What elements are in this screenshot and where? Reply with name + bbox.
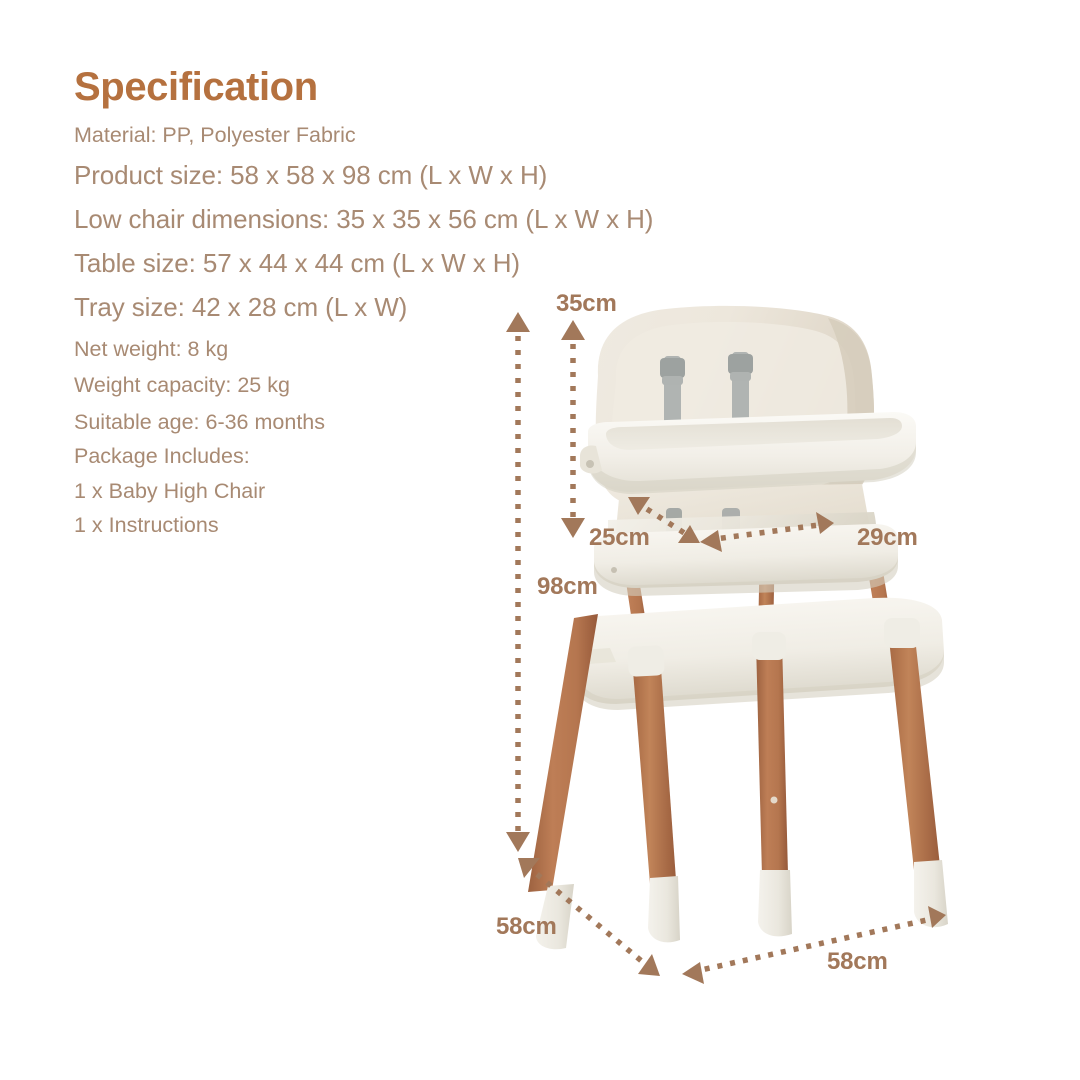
page-title: Specification <box>74 66 594 108</box>
high-chair-illustration <box>470 280 1030 1020</box>
spec-line-low-chair-size: Low chair dimensions: 35 x 35 x 56 cm (L… <box>74 203 594 236</box>
dimension-label-25cm: 25cm <box>589 524 650 552</box>
food-tray <box>580 412 916 494</box>
product-diagram <box>470 280 1030 1020</box>
spec-line-table-size: Table size: 57 x 44 x 44 cm (L x W x H) <box>74 247 594 280</box>
dimension-label-35cm: 35cm <box>556 290 617 318</box>
spec-line-material: Material: PP, Polyester Fabric <box>74 122 594 150</box>
dimension-label-98cm: 98cm <box>537 573 598 601</box>
dimension-label-58cm-width: 58cm <box>827 948 888 976</box>
dimension-label-29cm: 29cm <box>857 524 918 552</box>
dimension-label-58cm-depth: 58cm <box>496 913 557 941</box>
spec-line-product-size: Product size: 58 x 58 x 98 cm (L x W x H… <box>74 159 594 192</box>
